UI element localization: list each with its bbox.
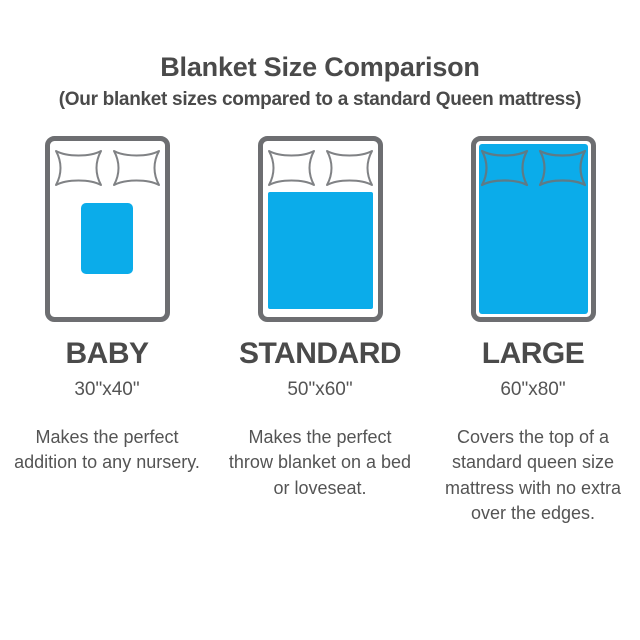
- page-subtitle: (Our blanket sizes compared to a standar…: [10, 89, 630, 112]
- bed-with-standard-blanket-icon: [258, 136, 383, 322]
- comparison-column-standard: STANDARD 50"x60" Makes the perfect throw…: [214, 136, 427, 502]
- comparison-column-baby: BABY 30"x40" Makes the perfect addition …: [1, 136, 214, 476]
- comparison-columns: BABY 30"x40" Makes the perfect addition …: [0, 136, 640, 527]
- comparison-column-large: LARGE 60"x80" Covers the top of a standa…: [427, 136, 640, 527]
- size-dimensions-large: 60"x80": [500, 380, 565, 399]
- size-description-standard: Makes the perfect throw blanket on a bed…: [225, 425, 415, 502]
- size-name-large: LARGE: [482, 339, 585, 369]
- bed-with-baby-blanket-icon: [45, 136, 170, 322]
- size-description-baby: Makes the perfect addition to any nurser…: [12, 425, 202, 476]
- size-description-large: Covers the top of a standard queen size …: [438, 425, 628, 527]
- size-name-standard: STANDARD: [239, 339, 401, 369]
- bed-with-large-blanket-icon: [471, 136, 596, 322]
- header: Blanket Size Comparison (Our blanket siz…: [0, 52, 640, 112]
- size-name-baby: BABY: [65, 339, 148, 369]
- page-title: Blanket Size Comparison: [10, 52, 630, 83]
- blanket-size-comparison-infographic: Blanket Size Comparison (Our blanket siz…: [0, 0, 640, 640]
- size-dimensions-baby: 30"x40": [74, 380, 139, 399]
- size-dimensions-standard: 50"x60": [287, 380, 352, 399]
